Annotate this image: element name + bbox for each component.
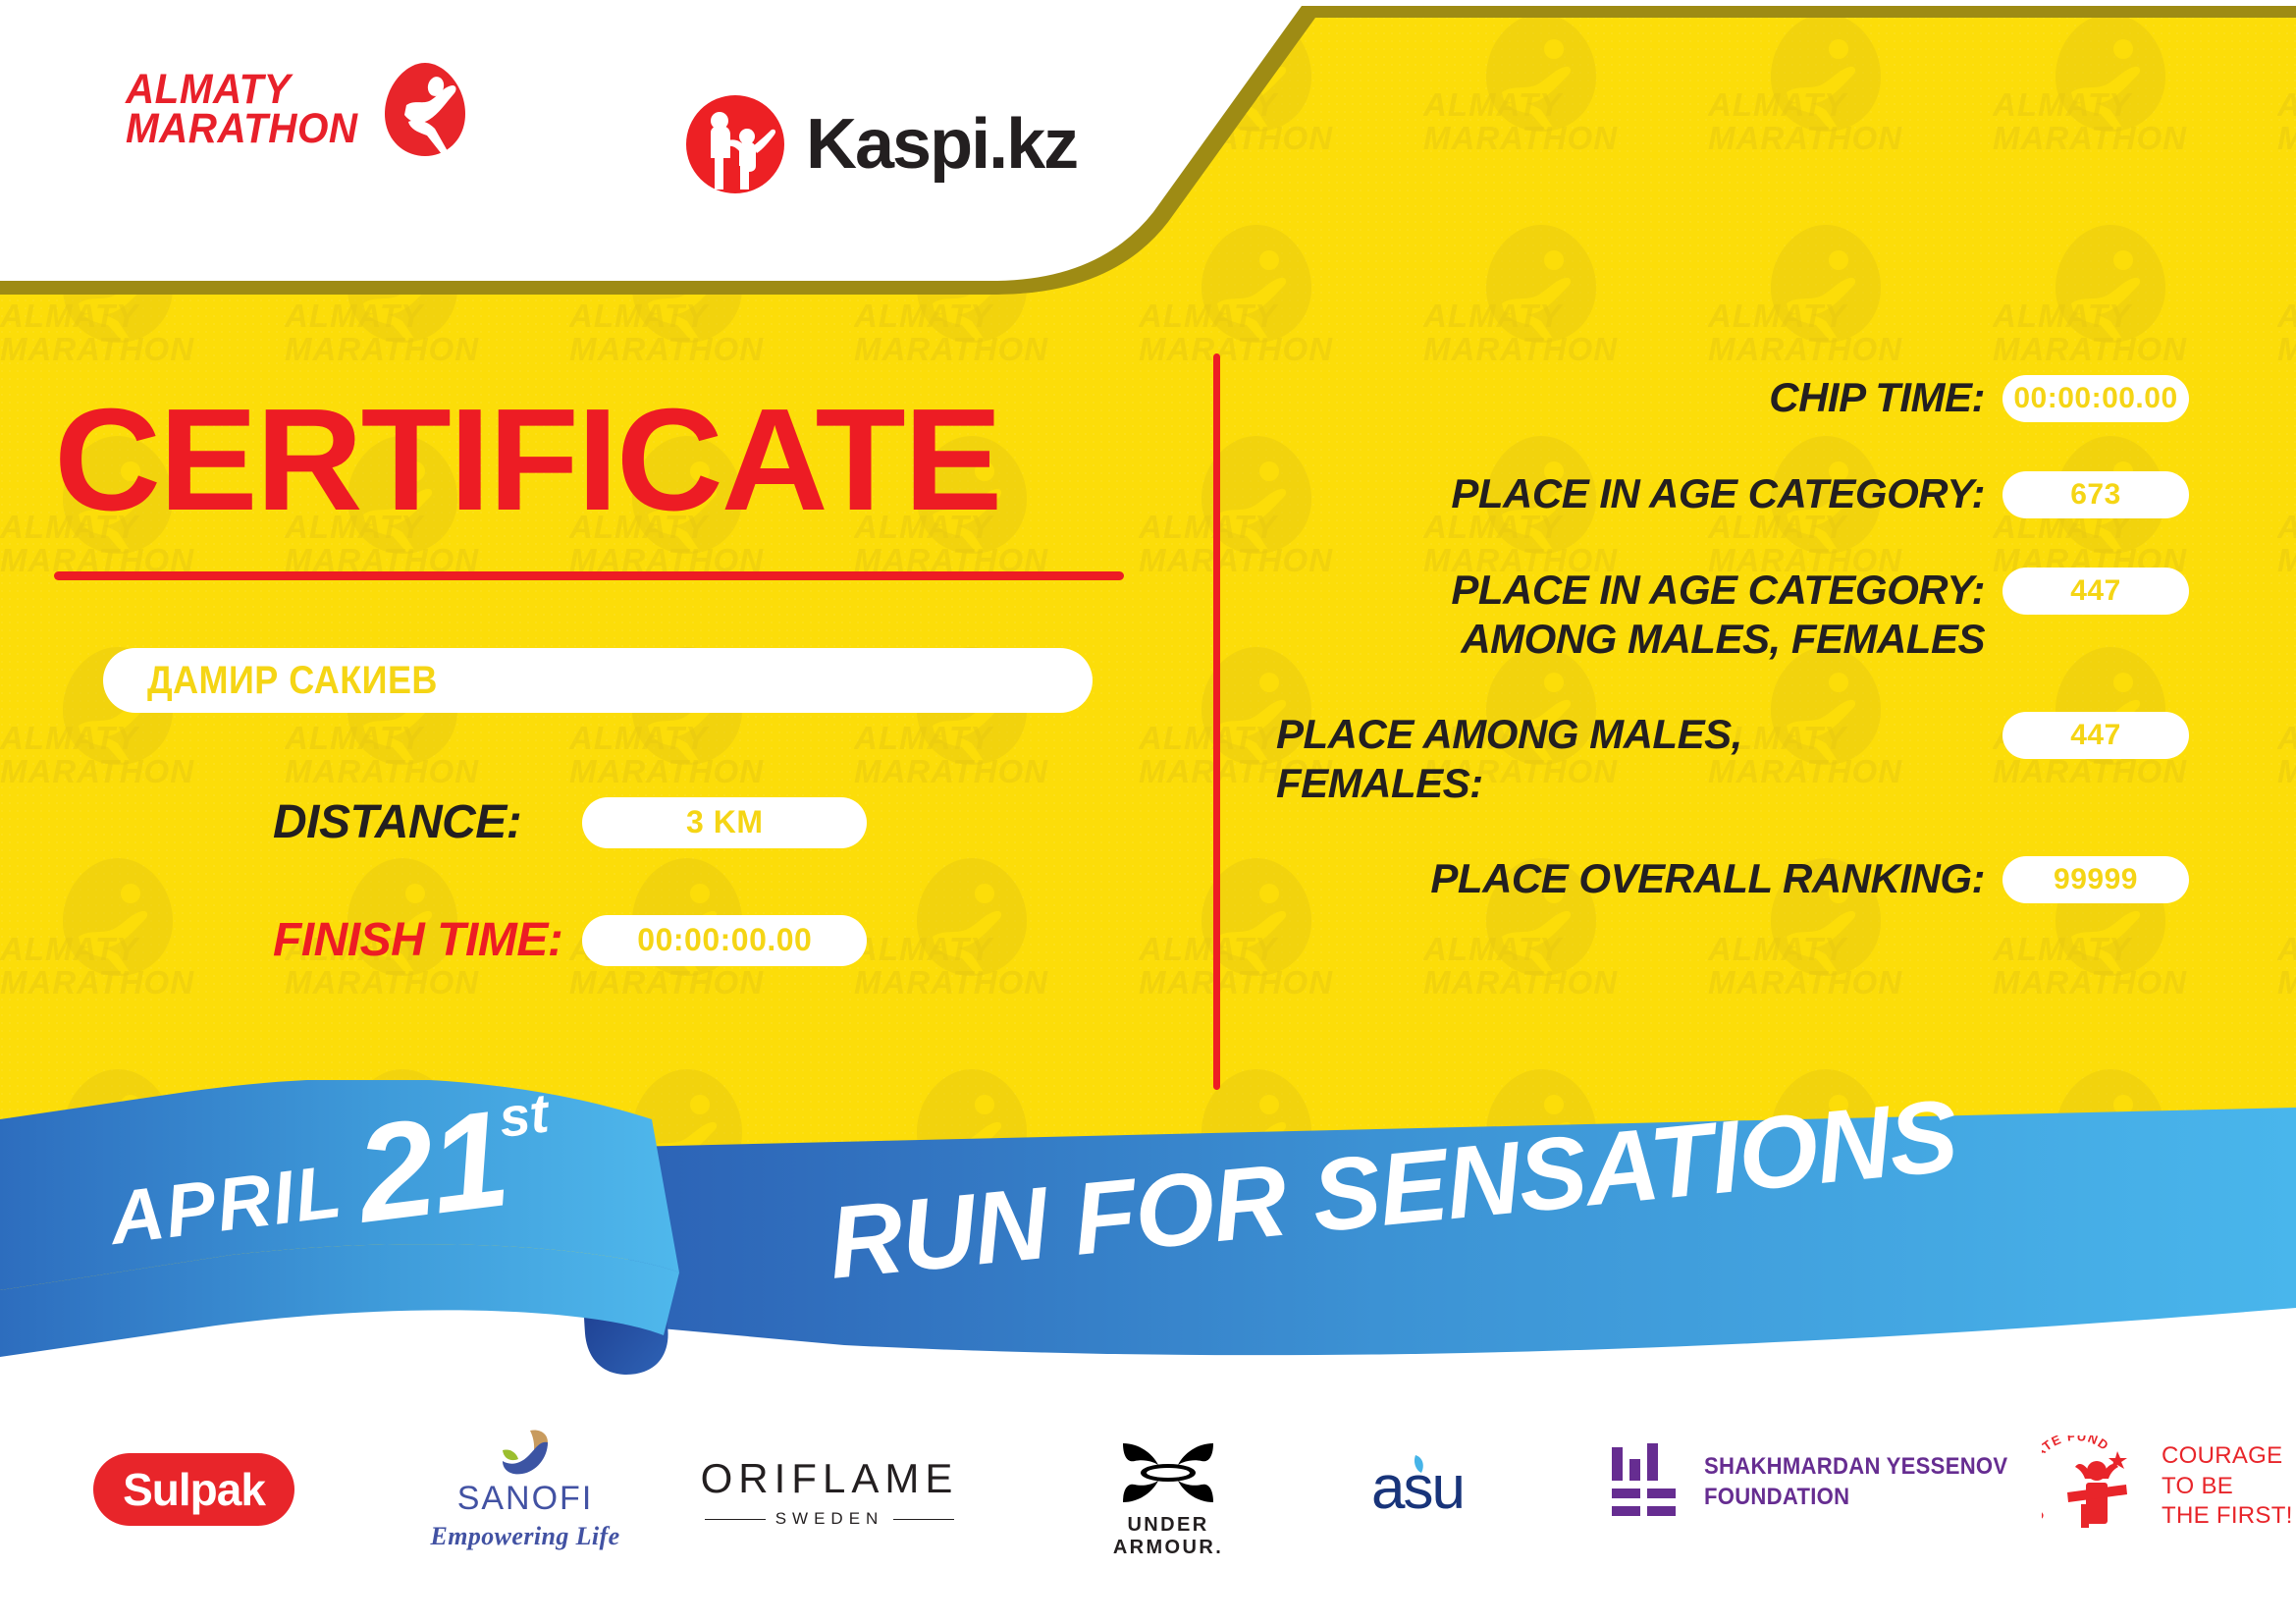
sponsor-bar (0, 1424, 2296, 1591)
column-divider (1213, 353, 1220, 1090)
result-label: PLACE IN AGE CATEGORY: AMONG MALES, FEMA… (1276, 566, 2002, 663)
result-value: 00:00:00.00 (2002, 375, 2189, 422)
event-day: 21 (351, 1103, 511, 1232)
participant-name-field: ДАМИР САКИЕВ (103, 648, 1093, 713)
result-row: PLACE IN AGE CATEGORY: AMONG MALES, FEMA… (1276, 566, 2189, 663)
runner-drop-icon (383, 61, 467, 159)
result-row: PLACE AMONG MALES, FEMALES: 447 (1276, 710, 2189, 807)
kaspi-logo: Kaspi.kz (684, 93, 1077, 195)
result-value: 447 (2002, 568, 2189, 615)
result-row: PLACE IN AGE CATEGORY: 673 (1276, 469, 2189, 518)
almaty-marathon-logo: ALMATY MARATHON (126, 61, 467, 159)
header-logo-bar: ALMATY MARATHON Kaspi.kz (0, 0, 1227, 206)
result-value: 673 (2002, 471, 2189, 518)
distance-value: 3 KM (582, 797, 867, 848)
result-label: PLACE OVERALL RANKING: (1276, 854, 2002, 903)
kaspi-people-circle-icon (684, 93, 786, 195)
finish-time-label: FINISH TIME: (273, 913, 562, 967)
finish-time-row: FINISH TIME: 00:00:00.00 (273, 913, 867, 967)
results-column: CHIP TIME: 00:00:00.00 PLACE IN AGE CATE… (1276, 373, 2189, 950)
finish-time-value: 00:00:00.00 (582, 915, 867, 966)
certificate-page: ALMATY MARATHON ALMATY MARATHON (0, 0, 2296, 1624)
result-row: CHIP TIME: 00:00:00.00 (1276, 373, 2189, 422)
result-label: PLACE AMONG MALES, FEMALES: (1276, 710, 2002, 807)
title-divider (54, 571, 1124, 580)
distance-label: DISTANCE: (273, 795, 521, 849)
result-value: 99999 (2002, 856, 2189, 903)
almaty-marathon-wordmark: ALMATY MARATHON (126, 71, 373, 148)
result-row: PLACE OVERALL RANKING: 99999 (1276, 854, 2189, 903)
kaspi-wordmark: Kaspi.kz (806, 104, 1077, 185)
participant-name-value: ДАМИР САКИЕВ (147, 659, 438, 703)
result-label: PLACE IN AGE CATEGORY: (1276, 469, 2002, 518)
almaty-marathon-line2: MARATHON (126, 110, 358, 149)
page-title: CERTIFICATE (54, 388, 1000, 533)
result-label: CHIP TIME: (1276, 373, 2002, 422)
result-value: 447 (2002, 712, 2189, 759)
distance-row: DISTANCE: 3 KM (273, 795, 867, 849)
